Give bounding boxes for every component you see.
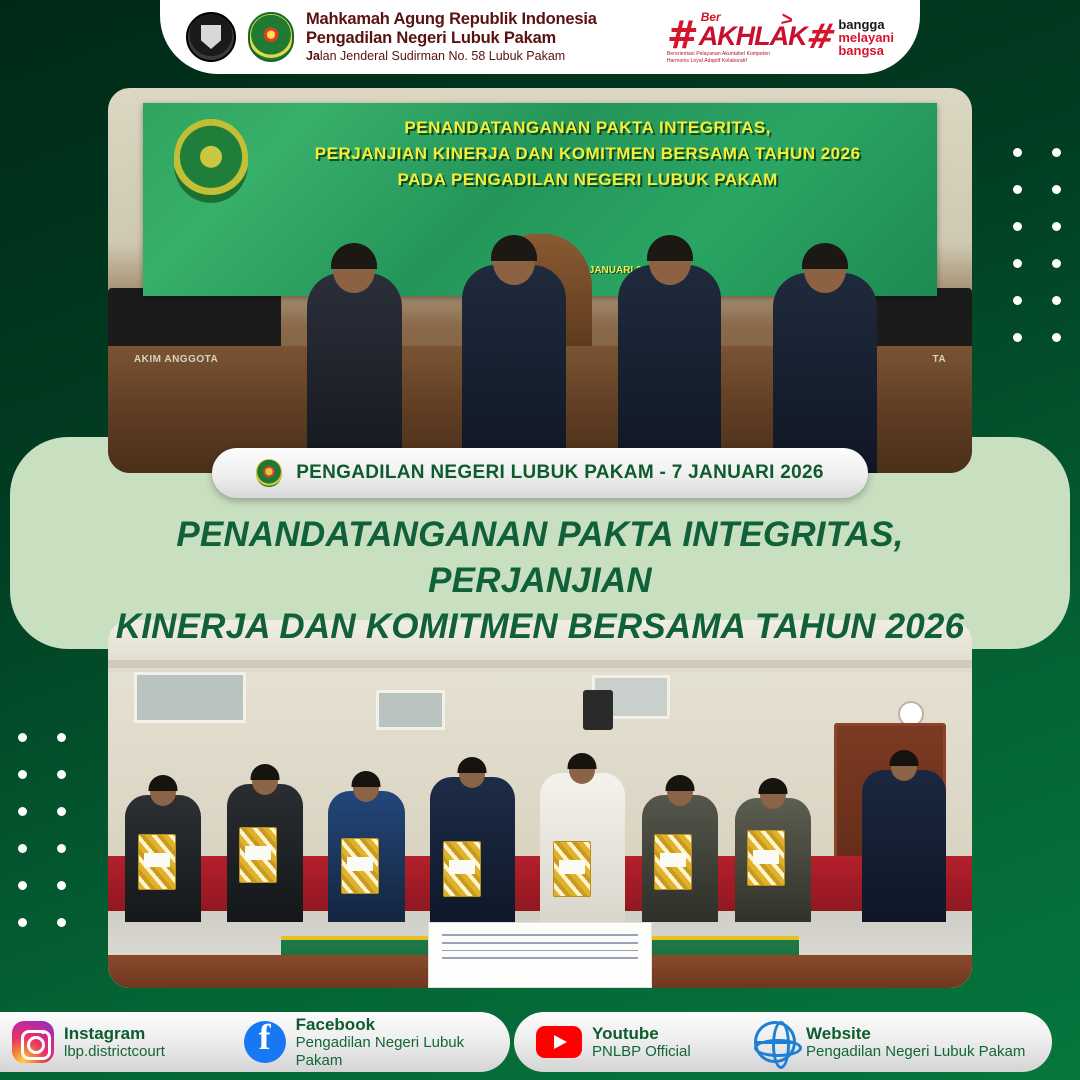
akhlak-tagline-1: Berorientasi Pelayanan Akuntabel Kompete… bbox=[667, 51, 797, 57]
dot bbox=[57, 844, 66, 853]
dot bbox=[18, 844, 27, 853]
person-hair bbox=[890, 750, 919, 766]
person-hair bbox=[149, 775, 178, 791]
person-hair bbox=[250, 764, 279, 780]
certificate-folder bbox=[138, 834, 176, 890]
banner-line-3: PADA PENGADILAN NEGERI LUBUK PAKAM bbox=[254, 167, 922, 193]
wall-speaker bbox=[583, 690, 613, 730]
dot bbox=[1013, 148, 1022, 157]
dot bbox=[1052, 185, 1061, 194]
dot bbox=[1052, 296, 1061, 305]
dot bbox=[18, 918, 27, 927]
institution-address: Jalan Jenderal Sudirman No. 58 Lubuk Pak… bbox=[306, 48, 667, 64]
window-center bbox=[376, 690, 445, 730]
akhlak-tagline-2: Harmonis Loyal Adaptif Kolaboratif bbox=[667, 58, 797, 64]
person-hair bbox=[458, 757, 487, 773]
event-date-label: PENGADILAN NEGERI LUBUK PAKAM - 7 JANUAR… bbox=[296, 462, 824, 484]
dot bbox=[1013, 222, 1022, 231]
page-title-line-1: PENANDATANGANAN PAKTA INTEGRITAS, PERJAN… bbox=[70, 512, 1010, 604]
dot bbox=[18, 881, 27, 890]
person-hair bbox=[352, 771, 381, 787]
social-footer: Instagram lbp.districtcourt Facebook Pen… bbox=[0, 1012, 1080, 1072]
certificate-folder bbox=[239, 827, 277, 883]
bench-nameplate-left: AKIM ANGGOTA bbox=[134, 354, 218, 365]
banner-line-1: PENANDATANGANAN PAKTA INTEGRITAS, bbox=[254, 115, 922, 141]
address-prefix: Ja bbox=[306, 49, 320, 63]
staff-person bbox=[862, 770, 947, 922]
page-title: PENANDATANGANAN PAKTA INTEGRITAS, PERJAN… bbox=[70, 512, 1010, 650]
person-hair bbox=[758, 778, 787, 794]
website-title: Website bbox=[806, 1024, 1025, 1043]
dot bbox=[18, 807, 27, 816]
dot bbox=[57, 733, 66, 742]
social-item-instagram[interactable]: Instagram lbp.districtcourt bbox=[12, 1021, 244, 1063]
instagram-title: Instagram bbox=[64, 1024, 165, 1043]
social-item-youtube[interactable]: Youtube PNLBP Official bbox=[536, 1024, 754, 1061]
banner-seal-icon bbox=[174, 119, 248, 203]
institution-line-2: Pengadilan Negeri Lubuk Pakam bbox=[306, 29, 667, 48]
header-text-block: Mahkamah Agung Republik Indonesia Pengad… bbox=[306, 10, 667, 64]
certificate-folder bbox=[341, 838, 379, 894]
event-date-pill: PENGADILAN NEGERI LUBUK PAKAM - 7 JANUAR… bbox=[212, 448, 868, 498]
official-person-2 bbox=[462, 265, 566, 473]
social-item-facebook[interactable]: Facebook Pengadilan Negeri Lubuk Pakam bbox=[244, 1015, 510, 1070]
globe-icon[interactable] bbox=[754, 1021, 796, 1063]
instagram-icon[interactable] bbox=[12, 1021, 54, 1063]
dot bbox=[57, 918, 66, 927]
staff-crowd bbox=[117, 745, 964, 922]
pengadilan-negeri-seal-icon bbox=[248, 12, 294, 62]
facebook-title: Facebook bbox=[296, 1015, 510, 1034]
bangga-line-3: bangsa bbox=[838, 44, 894, 57]
address-rest: lan Jenderal Sudirman No. 58 Lubuk Pakam bbox=[320, 49, 565, 63]
person-hair bbox=[568, 753, 597, 769]
banner-headline: PENANDATANGANAN PAKTA INTEGRITAS, PERJAN… bbox=[254, 115, 922, 193]
header-bar: Mahkamah Agung Republik Indonesia Pengad… bbox=[160, 0, 920, 74]
window-left bbox=[134, 672, 246, 724]
youtube-icon[interactable] bbox=[536, 1026, 582, 1058]
footer-pill-right: Youtube PNLBP Official Website Pengadila… bbox=[514, 1012, 1052, 1072]
certificate-folder bbox=[747, 830, 785, 886]
commitment-document-board bbox=[428, 922, 653, 988]
facebook-icon[interactable] bbox=[244, 1021, 286, 1063]
dot-grid-left bbox=[18, 733, 66, 927]
bangga-line-2: melayani bbox=[838, 31, 894, 44]
youtube-handle: PNLBP Official bbox=[592, 1043, 691, 1061]
dot bbox=[1013, 259, 1022, 268]
dot bbox=[57, 770, 66, 779]
certificate-folder bbox=[553, 841, 591, 897]
certificate-folder bbox=[654, 834, 692, 890]
social-item-website[interactable]: Website Pengadilan Negeri Lubuk Pakam bbox=[754, 1021, 1025, 1063]
instagram-handle: lbp.districtcourt bbox=[64, 1043, 165, 1061]
youtube-title: Youtube bbox=[592, 1024, 691, 1043]
photo-top-officials: PENANDATANGANAN PAKTA INTEGRITAS, PERJAN… bbox=[108, 88, 972, 473]
official-person-3 bbox=[618, 265, 722, 473]
court-seal-icon bbox=[256, 459, 282, 487]
dot bbox=[57, 881, 66, 890]
certificate-folder bbox=[443, 841, 481, 897]
dot bbox=[1013, 333, 1022, 342]
bangga-line-1: bangga bbox=[838, 18, 894, 31]
photo-bottom-staff bbox=[108, 620, 972, 988]
official-person-4 bbox=[773, 273, 877, 473]
dot bbox=[18, 733, 27, 742]
bangga-melayani-bangsa-logo: # bangga melayani bangsa bbox=[807, 18, 894, 57]
berakhlak-logo: > # Ber AKHLAK Berorientasi Pelayanan Ak… bbox=[667, 11, 797, 64]
dot bbox=[1013, 185, 1022, 194]
ceiling-beam bbox=[108, 660, 972, 668]
footer-pill-left: Instagram lbp.districtcourt Facebook Pen… bbox=[0, 1012, 510, 1072]
dot bbox=[1052, 333, 1061, 342]
banner-line-2: PERJANJIAN KINERJA DAN KOMITMEN BERSAMA … bbox=[254, 141, 922, 167]
bench-nameplate-right: TA bbox=[933, 354, 947, 365]
dot bbox=[1052, 222, 1061, 231]
official-person-1 bbox=[307, 273, 402, 473]
akhlak-hash-icon: # bbox=[667, 20, 699, 50]
website-handle: Pengadilan Negeri Lubuk Pakam bbox=[806, 1043, 1025, 1061]
dot bbox=[57, 807, 66, 816]
person-hair bbox=[665, 775, 694, 791]
dot bbox=[1052, 148, 1061, 157]
dot bbox=[18, 770, 27, 779]
page-title-line-2: KINERJA DAN KOMITMEN BERSAMA TAHUN 2026 bbox=[70, 604, 1010, 650]
institution-line-1: Mahkamah Agung Republik Indonesia bbox=[306, 10, 667, 29]
mahkamah-agung-seal-icon bbox=[186, 12, 236, 62]
dot-grid-right bbox=[1013, 148, 1061, 342]
dot bbox=[1052, 259, 1061, 268]
facebook-handle: Pengadilan Negeri Lubuk Pakam bbox=[296, 1034, 510, 1070]
bangga-hash-icon: # bbox=[804, 22, 839, 52]
dot bbox=[1013, 296, 1022, 305]
